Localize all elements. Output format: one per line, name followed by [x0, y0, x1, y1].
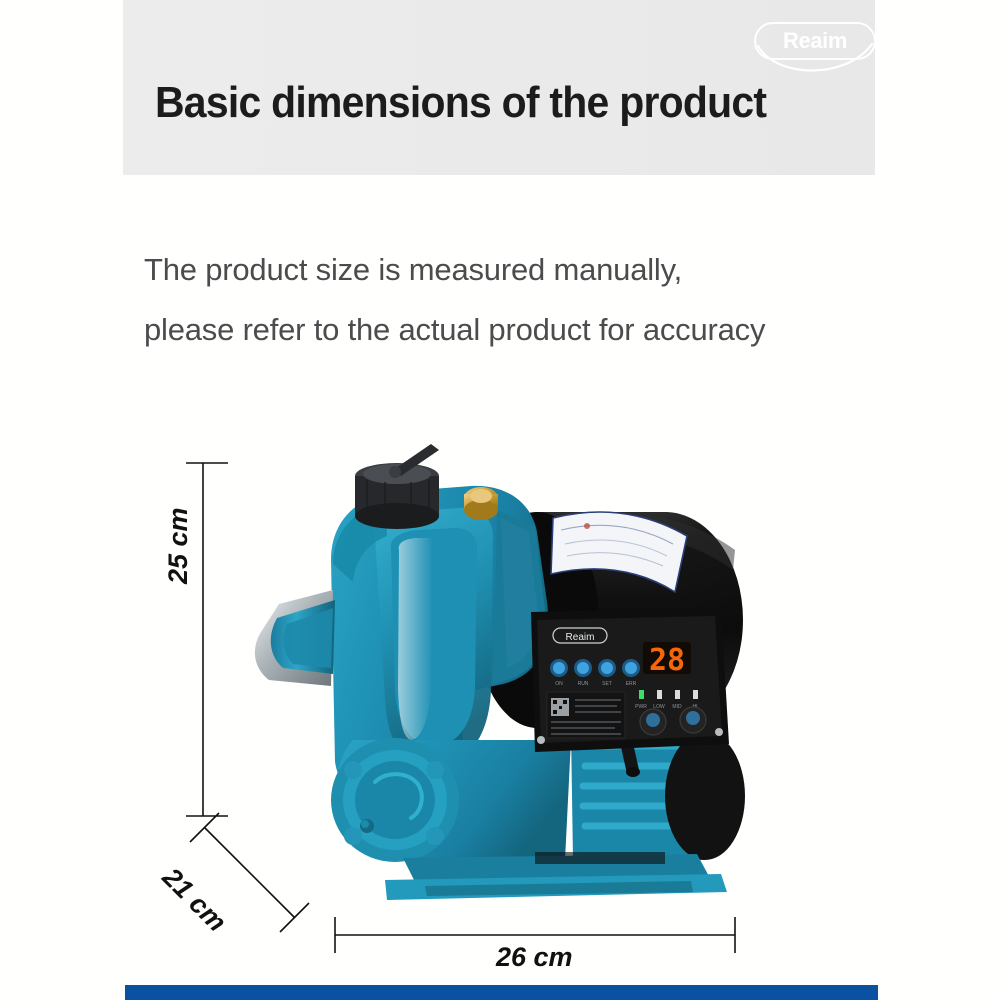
- page-root: Basic dimensions of the product Reaim Th…: [0, 0, 1000, 1000]
- svg-text:MID: MID: [672, 704, 682, 710]
- subtitle-block: The product size is measured manually, p…: [144, 240, 904, 360]
- subtitle-line-1: The product size is measured manually,: [144, 240, 904, 300]
- led-display: 28: [643, 642, 691, 678]
- led-display-value: 28: [649, 643, 685, 678]
- filler-cap: [355, 444, 439, 529]
- logo-text: Reaim: [754, 22, 876, 60]
- subtitle-line-2: please refer to the actual product for a…: [144, 300, 904, 360]
- dimension-label-depth: 21 cm: [156, 862, 232, 938]
- brass-fitting: [464, 487, 498, 520]
- svg-text:ON: ON: [555, 681, 563, 687]
- panel-spec-label: [547, 692, 625, 738]
- svg-text:SET: SET: [602, 681, 612, 687]
- base-plate: [385, 852, 727, 900]
- svg-text:PWR: PWR: [635, 704, 647, 710]
- brand-logo: Reaim: [754, 22, 876, 60]
- page-title: Basic dimensions of the product: [155, 78, 766, 128]
- svg-text:RUN: RUN: [578, 681, 589, 687]
- motor-end-bell: [331, 738, 571, 862]
- dimension-label-width: 26 cm: [496, 942, 573, 973]
- product-image: Reaim ONRUN SETERR 28: [235, 440, 775, 910]
- footer-bar: [125, 985, 878, 1000]
- dimension-label-height: 25 cm: [163, 507, 194, 584]
- svg-text:Reaim: Reaim: [566, 632, 595, 643]
- cooling-fins: [571, 732, 745, 860]
- side-flange: [255, 590, 335, 686]
- control-panel: Reaim ONRUN SETERR 28: [531, 608, 729, 752]
- svg-text:ERR: ERR: [626, 681, 637, 687]
- pump-illustration: Reaim ONRUN SETERR 28: [235, 440, 775, 910]
